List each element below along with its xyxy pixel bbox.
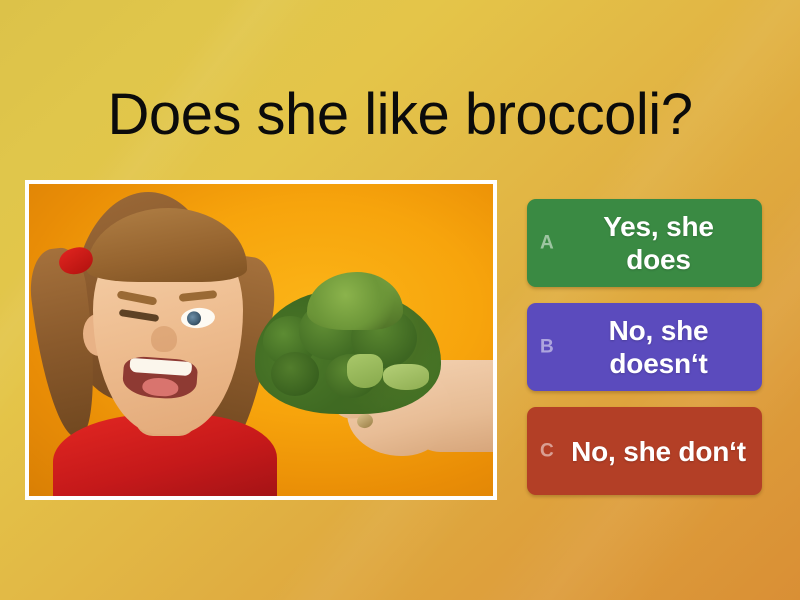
- answer-option-a[interactable]: A Yes, she does: [527, 199, 762, 287]
- broccoli-floret: [271, 352, 319, 396]
- option-label-c: No, she don‘t: [570, 435, 748, 468]
- answer-options: A Yes, she does B No, she doesn‘t C No, …: [527, 199, 762, 495]
- broccoli-stem: [347, 354, 383, 388]
- answer-option-c[interactable]: C No, she don‘t: [527, 407, 762, 495]
- answer-option-b[interactable]: B No, she doesn‘t: [527, 303, 762, 391]
- question-image: [29, 184, 493, 496]
- tongue: [142, 377, 179, 397]
- hand-with-broccoli: [255, 272, 493, 496]
- question-image-frame: [25, 180, 497, 500]
- page-title: Does she like broccoli?: [24, 84, 776, 146]
- option-letter-b: B: [540, 338, 554, 357]
- option-label-a: Yes, she does: [570, 210, 748, 276]
- option-label-b: No, she doesn‘t: [570, 314, 748, 380]
- broccoli-crown: [307, 272, 403, 330]
- quiz-slide: Does she like broccoli?: [0, 0, 800, 600]
- teeth: [129, 358, 192, 376]
- nose: [151, 326, 177, 352]
- option-letter-c: C: [540, 442, 554, 461]
- option-letter-a: A: [540, 234, 554, 253]
- broccoli-stem: [383, 364, 429, 390]
- girl-figure: [31, 186, 281, 496]
